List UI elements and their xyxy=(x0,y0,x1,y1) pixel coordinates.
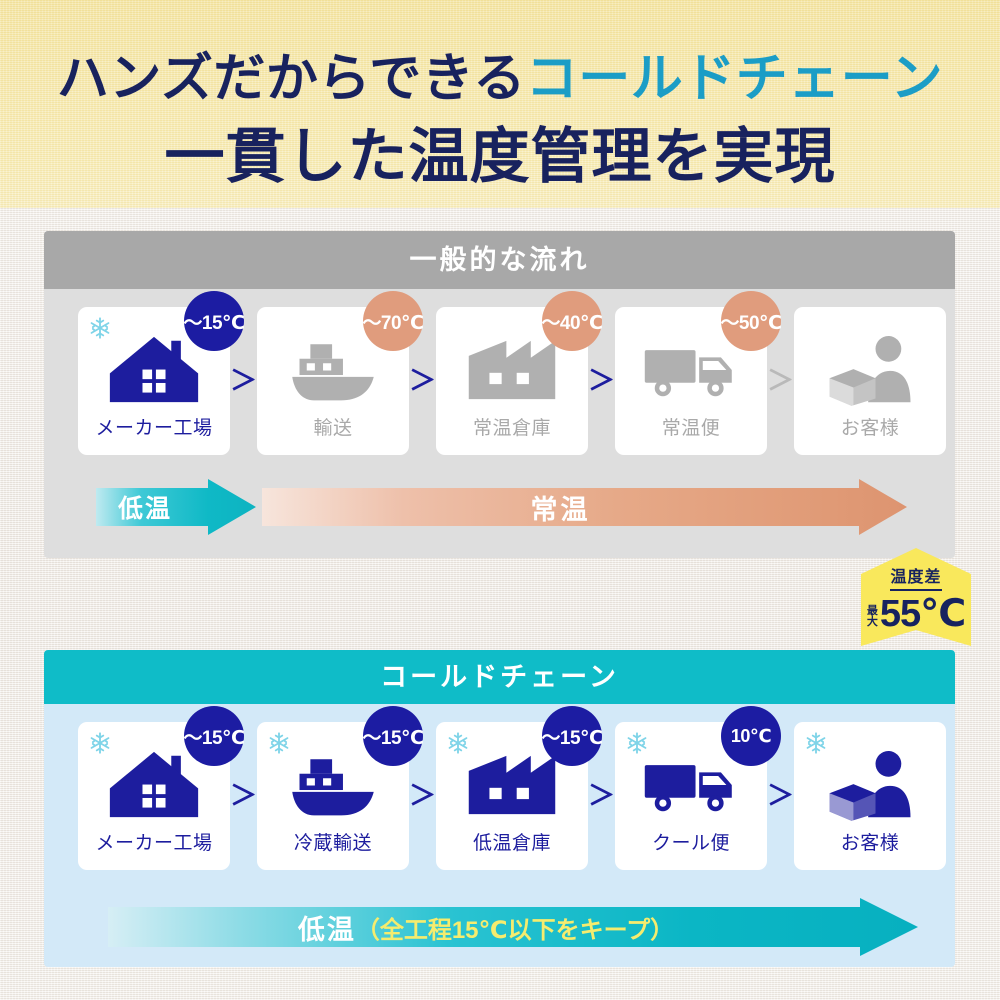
low-temp-arrow-main-label: 低温 xyxy=(298,908,356,947)
hero-headline-accent: コールドチェーン xyxy=(526,48,943,109)
step-label: お客様 xyxy=(841,413,900,440)
step-card[interactable]: ～50℃ 常温便 xyxy=(615,307,767,455)
temperature-difference-value: 55℃ xyxy=(880,595,965,633)
step-label: クール便 xyxy=(652,828,730,855)
general-flow-steps: ～15℃ メーカー工場 ＞ ～70℃ 輸送 ＞ ～40℃ 常温倉庫 ＞ ～50℃ xyxy=(78,307,928,455)
chevron-right-icon: ＞ xyxy=(230,368,257,395)
chevron-right-icon: ＞ xyxy=(230,783,257,810)
chevron-right-icon: ＞ xyxy=(767,783,794,810)
chevron-right-icon: ＞ xyxy=(767,368,794,395)
step-card[interactable]: お客様 xyxy=(794,722,946,870)
step-card[interactable]: ～40℃ 常温倉庫 xyxy=(436,307,588,455)
temperature-badge: ～40℃ xyxy=(542,291,602,351)
step-card[interactable]: ～15℃ メーカー工場 xyxy=(78,307,230,455)
step-card[interactable]: 10℃ クール便 xyxy=(615,722,767,870)
temperature-difference-title: 温度差 xyxy=(890,570,941,591)
low-temp-arrow-label: 低温 xyxy=(118,489,172,525)
step-label: お客様 xyxy=(841,828,900,855)
step-label: 常温便 xyxy=(662,413,721,440)
step-card[interactable]: お客様 xyxy=(794,307,946,455)
cold-chain-steps: ～15℃ メーカー工場 ＞ ～15℃ 冷蔵輸送 ＞ ～15℃ 低温倉庫 xyxy=(78,722,928,870)
room-temp-arrow-label: 常温 xyxy=(531,488,591,527)
temperature-difference-prefix: 最 大 xyxy=(867,606,878,628)
step-label: メーカー工場 xyxy=(95,828,212,855)
step-card[interactable]: ～70℃ 輸送 xyxy=(257,307,409,455)
temperature-badge: ～15℃ xyxy=(184,291,244,351)
infographic-root: ハンズだからできるコールドチェーン 一貫した温度管理を実現 一般的な流れ ～15… xyxy=(0,0,1000,1000)
hero-banner: ハンズだからできるコールドチェーン 一貫した温度管理を実現 xyxy=(0,0,1000,208)
general-flow-title: 一般的な流れ xyxy=(44,231,955,289)
temperature-badge: ～15℃ xyxy=(542,706,602,766)
temperature-difference-prefix-line2: 大 xyxy=(867,617,878,628)
cold-chain-title: コールドチェーン xyxy=(44,650,955,704)
chevron-right-icon: ＞ xyxy=(409,783,436,810)
low-temp-arrow-sub-label: （全工程15℃以下をキープ） xyxy=(356,910,674,945)
step-label: 低温倉庫 xyxy=(473,828,551,855)
chevron-right-icon: ＞ xyxy=(588,783,615,810)
customer-box-icon xyxy=(794,329,946,411)
temperature-badge: ～50℃ xyxy=(721,291,781,351)
temperature-badge: ～15℃ xyxy=(184,706,244,766)
hero-headline-2: 一貫した温度管理を実現 xyxy=(0,108,1000,195)
hero-headline-plain: ハンズだからできる xyxy=(57,48,526,109)
step-card[interactable]: ～15℃ メーカー工場 xyxy=(78,722,230,870)
chevron-right-icon: ＞ xyxy=(409,368,436,395)
step-card[interactable]: ～15℃ 低温倉庫 xyxy=(436,722,588,870)
step-label: メーカー工場 xyxy=(95,413,212,440)
temperature-badge: 10℃ xyxy=(721,706,781,766)
hero-headline-1: ハンズだからできるコールドチェーン xyxy=(0,36,1000,111)
step-card[interactable]: ～15℃ 冷蔵輸送 xyxy=(257,722,409,870)
temperature-badge: ～15℃ xyxy=(363,706,423,766)
chevron-right-icon: ＞ xyxy=(588,368,615,395)
step-label: 輸送 xyxy=(313,413,352,440)
customer-box-icon xyxy=(794,744,946,826)
temperature-badge: ～70℃ xyxy=(363,291,423,351)
temperature-difference-value-row: 最 大 55℃ xyxy=(867,595,965,633)
step-label: 常温倉庫 xyxy=(473,413,551,440)
step-label: 冷蔵輸送 xyxy=(294,828,372,855)
